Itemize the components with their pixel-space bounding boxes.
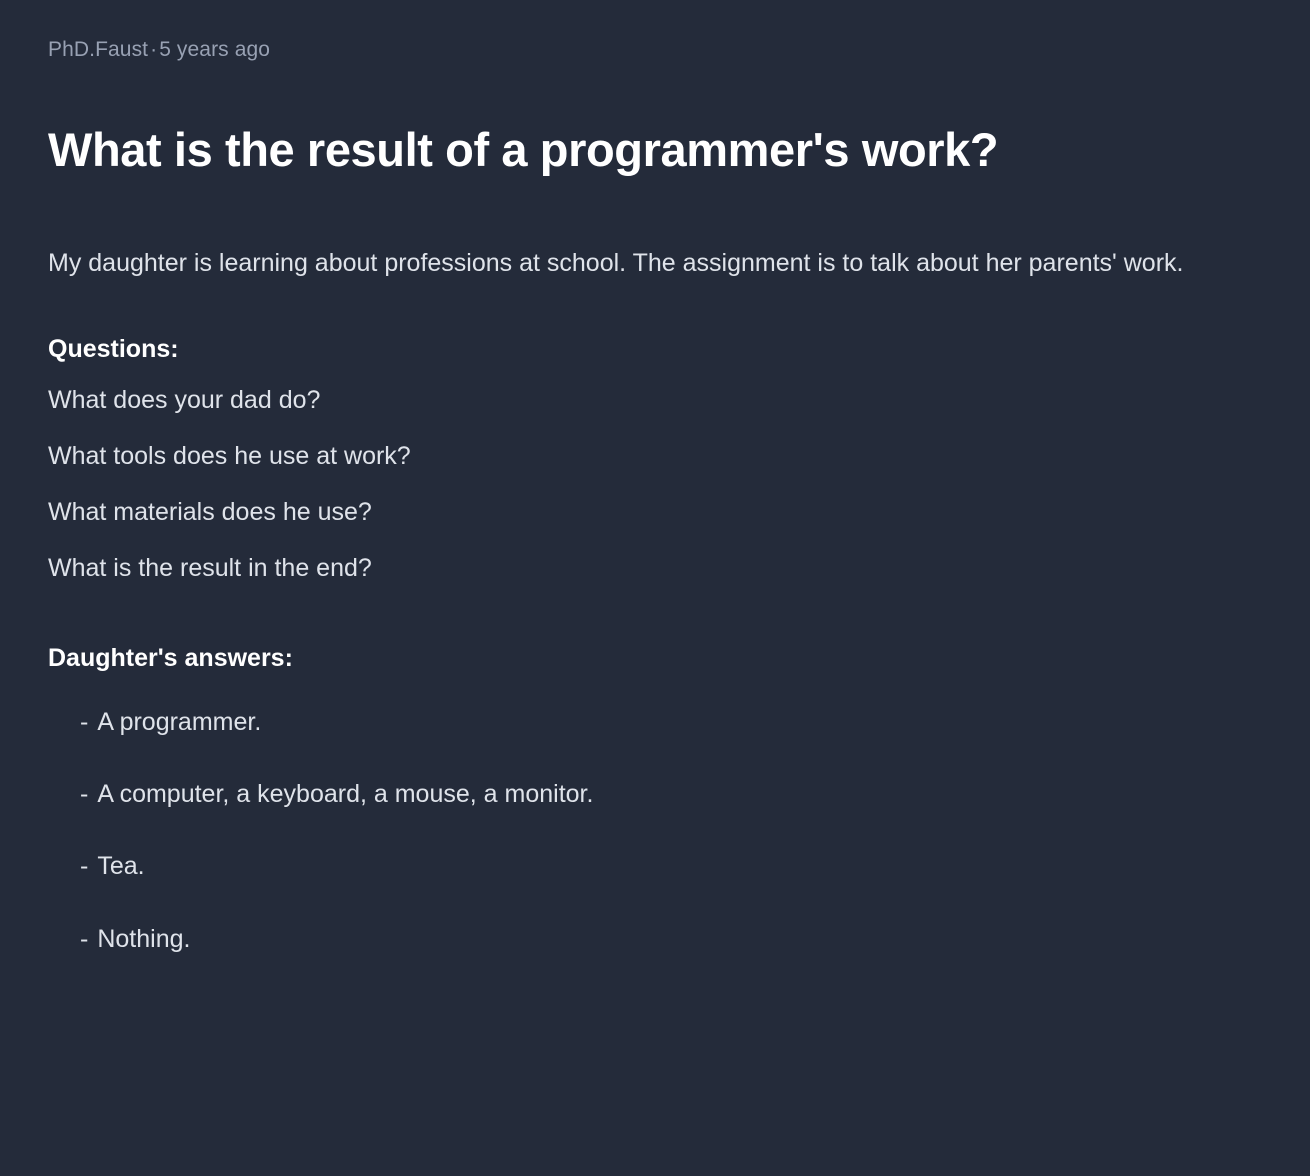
list-item: -A computer, a keyboard, a mouse, a moni… [48, 776, 1262, 812]
question-line: What is the result in the end? [48, 540, 1262, 596]
post-intro-paragraph: My daughter is learning about profession… [48, 244, 1262, 283]
list-item: -A programmer. [48, 704, 1262, 740]
question-line: What tools does he use at work? [48, 428, 1262, 484]
dash-bullet-icon: - [80, 704, 88, 740]
answers-heading: Daughter's answers: [48, 640, 1262, 678]
dash-bullet-icon: - [80, 921, 88, 957]
page-title: What is the result of a programmer's wor… [48, 123, 1138, 178]
answers-section: Daughter's answers: -A programmer. -A co… [48, 640, 1262, 957]
questions-heading: Questions: [48, 331, 1262, 369]
answers-list: -A programmer. -A computer, a keyboard, … [48, 704, 1262, 957]
list-item: -Nothing. [48, 921, 1262, 957]
list-item: -Tea. [48, 848, 1262, 884]
questions-section: Questions: What does your dad do? What t… [48, 331, 1262, 597]
byline-author: PhD.Faust [48, 38, 148, 61]
list-item-label: A programmer. [97, 708, 261, 736]
list-item-label: A computer, a keyboard, a mouse, a monit… [97, 780, 593, 808]
list-item-label: Tea. [97, 852, 144, 880]
question-line: What materials does he use? [48, 484, 1262, 540]
post-container: PhD.Faust·5 years ago What is the result… [0, 0, 1310, 997]
question-line: What does your dad do? [48, 372, 1262, 428]
byline-separator: · [148, 38, 159, 61]
post-byline: PhD.Faust·5 years ago [48, 36, 1262, 63]
byline-timestamp: 5 years ago [159, 38, 270, 61]
list-item-label: Nothing. [97, 925, 190, 953]
dash-bullet-icon: - [80, 776, 88, 812]
dash-bullet-icon: - [80, 848, 88, 884]
